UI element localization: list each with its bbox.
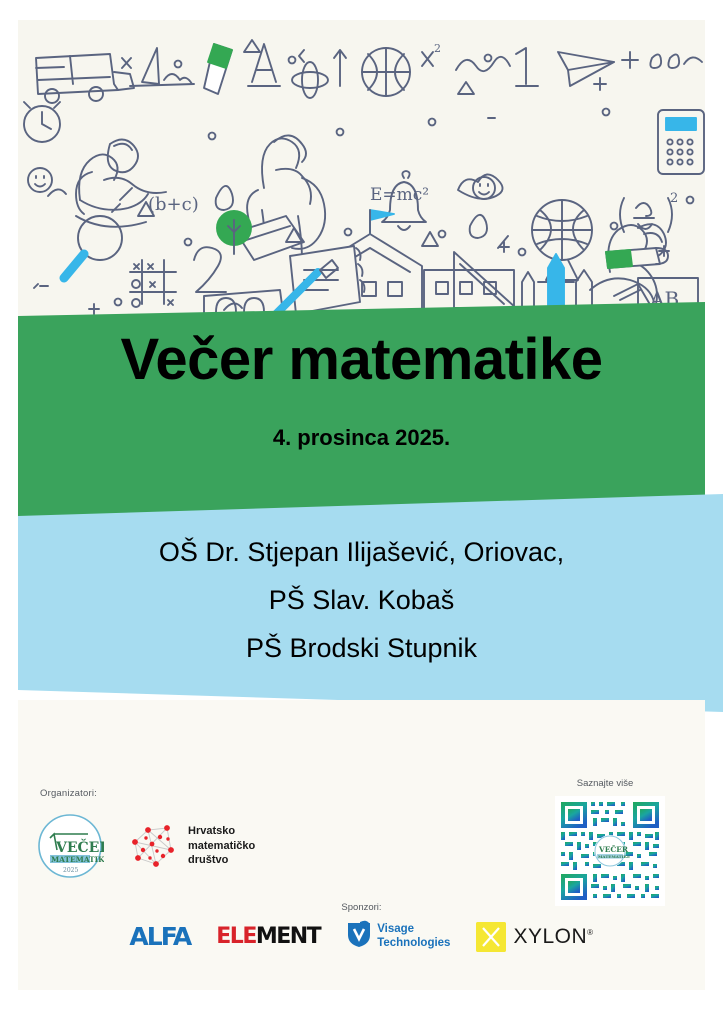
svg-text:MATEMATIKE: MATEMATIKE [598, 854, 630, 859]
sponsors-label: Sponzori: [18, 902, 705, 913]
xylon-registered: ® [587, 928, 593, 937]
hmd-label: Hrvatsko matematičko društvo [188, 824, 255, 868]
event-date: 4. prosinca 2025. [0, 425, 723, 451]
poster-root: 2 [0, 0, 723, 1024]
vecer-matematike-logo: VEČER MATEMATIKE 2025 [36, 812, 104, 880]
sponsors-row: ALFA ELE MENT Visage Technologies [18, 920, 705, 953]
hmd-line3: društvo [188, 853, 255, 868]
school-line: PŠ Slav. Kobaš [0, 576, 723, 624]
visage-line2: Technologies [377, 937, 450, 950]
sponsor-element: ELE MENT [216, 924, 320, 949]
svg-text:E=mc²: E=mc² [370, 185, 429, 205]
organizers-label: Organizatori: [40, 788, 97, 799]
qr-label: Saznajte više [545, 778, 665, 789]
header-illustration: 2 [18, 20, 705, 320]
sponsor-xylon: XYLON® [476, 922, 593, 952]
svg-text:2: 2 [434, 42, 441, 55]
visage-shield-icon [346, 920, 372, 953]
title-block: Večer matematike [0, 330, 723, 391]
visage-line1: Visage [377, 923, 450, 936]
network-graph-icon [126, 820, 178, 872]
organizers-row: VEČER MATEMATIKE 2025 [36, 812, 255, 880]
vm-logo-year: 2025 [63, 867, 78, 874]
sponsor-visage-technologies: Visage Technologies [346, 920, 450, 953]
hrvatsko-matematicko-drustvo-logo: Hrvatsko matematičko društvo [126, 820, 255, 872]
hmd-line2: matematičko [188, 839, 255, 854]
qr-code[interactable]: VEČER MATEMATIKE [555, 796, 665, 906]
element-logo-red: ELE [216, 924, 256, 949]
school-line: OŠ Dr. Stjepan Ilijašević, Oriovac, [0, 528, 723, 576]
xylon-logo-label: XYLON® [513, 925, 593, 949]
footer: Organizatori: VEČER MATEMATIKE 2025 [18, 700, 705, 990]
hmd-line1: Hrvatsko [188, 824, 255, 839]
svg-text:2: 2 [670, 191, 678, 206]
xylon-x-icon [476, 922, 506, 952]
element-logo-black: MENT [256, 924, 320, 949]
svg-text:VEČER: VEČER [598, 845, 629, 854]
sponsor-alfa: ALFA [129, 922, 190, 951]
vm-logo-line1: VEČER [55, 838, 104, 856]
school-list: OŠ Dr. Stjepan Ilijašević, Oriovac, PŠ S… [0, 528, 723, 672]
vm-logo-line2: MATEMATIKE [51, 855, 104, 864]
svg-text:(b+c): (b+c) [148, 194, 199, 215]
alfa-logo-label: ALFA [129, 922, 190, 951]
page-title: Večer matematike [0, 330, 723, 391]
school-line: PŠ Brodski Stupnik [0, 624, 723, 672]
visage-logo-label: Visage Technologies [377, 923, 450, 949]
xylon-word: XYLON [513, 925, 587, 948]
